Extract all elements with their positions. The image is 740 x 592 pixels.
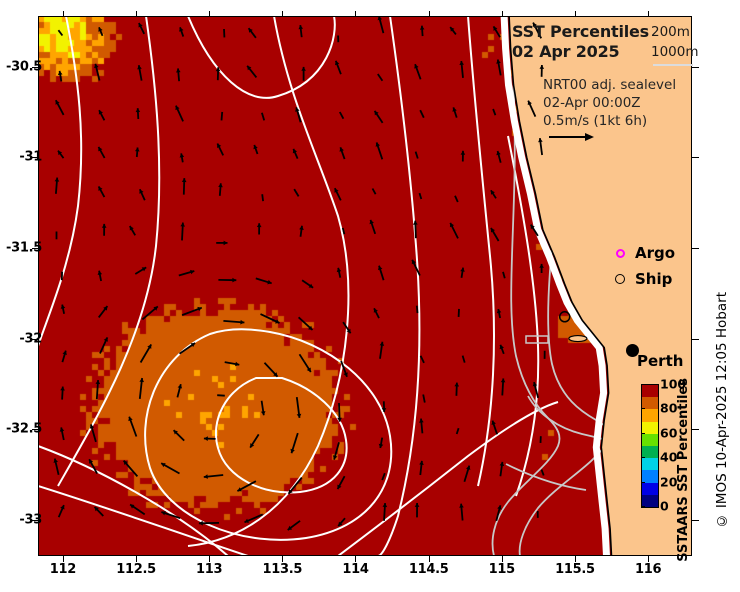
current-vector-arrow xyxy=(337,268,342,278)
current-vector-arrow xyxy=(493,109,495,115)
current-vector-arrow xyxy=(420,110,424,118)
current-vector-arrow xyxy=(302,280,313,288)
current-vector-arrow xyxy=(199,521,219,526)
current-vector-arrow xyxy=(500,345,504,354)
copyright-notice: © IMOS 10-Apr-2025 12:05 Hobart xyxy=(714,292,730,528)
current-vector-arrow xyxy=(335,61,341,74)
current-vector-arrow xyxy=(528,101,536,117)
colorbar-tick xyxy=(641,433,645,434)
current-vector-arrow xyxy=(494,26,501,37)
x-tick xyxy=(429,11,430,17)
current-vector-arrow xyxy=(100,337,108,353)
colorbar-band xyxy=(642,385,658,397)
legend-label-ship: Ship xyxy=(635,270,672,288)
y-tick-label: -31.5 xyxy=(6,240,42,255)
current-vector-arrow xyxy=(378,266,384,281)
current-vector-arrow xyxy=(89,459,97,473)
x-tick xyxy=(355,11,356,17)
current-vector-arrow xyxy=(454,383,459,396)
current-vector-arrow xyxy=(299,226,304,237)
x-tick xyxy=(648,11,649,17)
current-vector-arrow xyxy=(539,264,544,273)
colorbar-band xyxy=(642,409,658,421)
current-vector-arrow xyxy=(450,223,458,239)
info-timestamp: 02-Apr 00:00Z xyxy=(543,95,641,112)
current-vector-arrow xyxy=(179,27,183,36)
depth-legend-200m: 200m xyxy=(651,22,690,42)
y-tick xyxy=(692,520,699,521)
current-vector-arrow xyxy=(414,64,420,79)
colorbar-tick-label: 80 xyxy=(660,401,677,416)
current-vector-arrow xyxy=(501,378,506,395)
current-vector-arrow xyxy=(61,305,66,314)
current-vector-arrow xyxy=(135,148,140,158)
current-vector-arrow xyxy=(98,27,102,36)
y-tick xyxy=(692,248,699,249)
current-vector-arrow xyxy=(375,111,383,123)
current-vector-arrow xyxy=(420,26,425,36)
current-vector-arrow xyxy=(256,278,272,284)
current-vector-arrow xyxy=(177,384,182,397)
x-tick-label: 113.5 xyxy=(263,562,303,577)
current-vector-arrow xyxy=(457,428,459,434)
current-vector-arrow xyxy=(180,153,185,162)
current-vector-arrow xyxy=(136,108,141,119)
current-vector-arrow xyxy=(250,434,259,447)
current-vector-arrow xyxy=(130,226,135,235)
current-vector-arrow xyxy=(540,65,545,77)
current-vector-arrow xyxy=(416,152,418,159)
colorbar-tick-label: 0 xyxy=(660,499,669,514)
current-vector-arrow xyxy=(253,145,257,154)
current-vector-arrow xyxy=(340,112,344,119)
current-vector-arrow xyxy=(294,189,298,196)
x-tick xyxy=(502,11,503,17)
x-tick xyxy=(63,11,64,17)
current-vector-arrow xyxy=(60,427,64,440)
colorbar-tick-label: 60 xyxy=(660,425,677,440)
colorbar-tick xyxy=(641,482,645,483)
current-vector-arrow xyxy=(382,401,387,412)
y-tick xyxy=(692,67,699,68)
x-tick xyxy=(209,11,210,17)
current-vector-arrow xyxy=(459,504,464,521)
current-vector-arrow xyxy=(175,106,183,122)
current-vector-arrow xyxy=(378,74,383,81)
current-vector-arrow xyxy=(161,511,180,518)
current-vector-arrow xyxy=(533,382,538,398)
current-vector-arrow xyxy=(340,147,345,159)
current-vector-arrow xyxy=(461,151,466,162)
current-vector-arrow xyxy=(455,196,458,202)
current-vector-arrow xyxy=(412,260,420,276)
y-tick-label: -32 xyxy=(19,331,42,346)
legend-label-argo: Argo xyxy=(635,244,675,262)
colorbar-tick xyxy=(641,384,645,385)
current-vector-arrow xyxy=(124,461,138,477)
x-tick-label: 112 xyxy=(50,562,76,577)
colorbar-tick-label: 40 xyxy=(660,450,677,465)
y-tick-label: -33 xyxy=(19,512,42,527)
current-vector-arrow xyxy=(182,307,202,315)
current-vector-arrow xyxy=(496,60,501,76)
depth-legend-line-sample xyxy=(653,64,693,66)
current-vector-arrow xyxy=(343,228,345,234)
current-vector-arrow xyxy=(288,521,300,530)
current-vector-arrow xyxy=(56,100,64,115)
current-vector-arrow xyxy=(137,65,142,80)
current-vector-arrow xyxy=(379,438,384,448)
y-tick xyxy=(692,157,699,158)
sst-percentiles-map: SST Percentiles 02 Apr 2025 200m 1000m N… xyxy=(0,0,740,592)
page-title: SST Percentiles xyxy=(512,22,649,41)
current-vector-arrow xyxy=(176,68,181,81)
current-vector-arrow xyxy=(299,317,313,330)
current-vector-arrow xyxy=(225,362,240,367)
current-vector-arrow xyxy=(497,309,502,318)
current-vector-arrow xyxy=(376,142,383,159)
current-vector-arrow xyxy=(245,514,263,523)
current-vector-arrow xyxy=(463,356,465,363)
current-vector-arrow xyxy=(179,270,195,276)
current-vector-arrow xyxy=(491,190,496,198)
current-vector-arrow xyxy=(538,138,543,155)
current-vector-arrow xyxy=(216,67,221,80)
current-vector-arrow xyxy=(139,189,145,200)
x-tick xyxy=(136,11,137,17)
x-tick-label: 116 xyxy=(635,562,661,577)
current-vector-arrow xyxy=(139,378,144,399)
ship-marker-icon xyxy=(615,274,625,284)
current-vector-arrow xyxy=(380,342,385,359)
current-vector-arrow xyxy=(135,267,146,274)
current-vector-arrow xyxy=(301,67,306,81)
current-vector-arrow xyxy=(174,430,185,440)
current-vector-arrow xyxy=(419,419,424,434)
current-vector-arrow xyxy=(180,343,196,354)
current-vector-arrow xyxy=(204,474,223,479)
colorbar xyxy=(641,384,659,508)
current-vector-arrow xyxy=(415,503,420,517)
current-vector-arrow xyxy=(290,433,297,453)
x-tick-label: 113 xyxy=(196,562,222,577)
x-tick-label: 114.5 xyxy=(409,562,449,577)
current-vector-arrow xyxy=(139,23,145,34)
colorbar-title: SSTAARS SST Percentiles xyxy=(676,378,691,562)
current-vector-arrow xyxy=(289,478,302,494)
current-vector-arrow xyxy=(141,344,152,362)
current-vector-arrow xyxy=(338,518,345,526)
page-date: 02 Apr 2025 xyxy=(512,42,619,61)
current-vector-arrow xyxy=(374,308,379,318)
current-vector-arrow xyxy=(59,505,65,517)
current-vector-arrow xyxy=(421,356,424,363)
current-vector-arrow xyxy=(370,220,376,234)
argo-marker-icon xyxy=(616,249,625,258)
y-tick xyxy=(692,429,699,430)
colorbar-band xyxy=(642,458,658,470)
current-vector-arrow xyxy=(204,436,216,441)
current-vector-arrow xyxy=(503,272,505,278)
current-vector-arrow xyxy=(464,466,470,482)
city-label-perth: Perth xyxy=(637,352,683,370)
current-vector-arrow xyxy=(182,178,187,195)
current-vector-arrow xyxy=(420,193,422,199)
current-vector-arrow xyxy=(247,66,256,78)
current-vector-arrow xyxy=(222,112,223,121)
current-vector-arrow xyxy=(373,189,376,195)
current-vector-arrow xyxy=(334,188,340,200)
current-vector-arrow xyxy=(58,151,64,159)
current-vector-arrow xyxy=(460,268,465,278)
x-tick-label: 115.5 xyxy=(555,562,595,577)
current-vector-arrow xyxy=(265,363,278,377)
colorbar-tick xyxy=(641,408,645,409)
current-vector-arrow xyxy=(161,463,179,473)
current-vector-arrow xyxy=(337,403,342,422)
current-vector-arrow xyxy=(299,25,304,37)
velocity-scale-arrow-icon xyxy=(548,130,596,144)
current-vector-arrow xyxy=(295,107,301,122)
current-vector-arrow xyxy=(262,113,264,121)
colorbar-tick-label: 20 xyxy=(660,474,677,489)
current-vector-arrow xyxy=(217,395,225,396)
current-vector-arrow xyxy=(237,481,256,491)
y-tick xyxy=(692,339,699,340)
current-vector-arrow xyxy=(218,183,223,196)
current-vector-arrow xyxy=(257,223,262,234)
current-vector-arrow xyxy=(218,278,236,283)
current-vector-arrow xyxy=(102,224,107,236)
x-tick-label: 112.5 xyxy=(116,562,156,577)
current-vector-arrow xyxy=(333,442,339,459)
current-vector-arrow xyxy=(99,110,105,120)
current-vector-arrow xyxy=(542,470,544,476)
x-tick-label: 114 xyxy=(342,562,368,577)
x-tick-label: 115 xyxy=(489,562,515,577)
current-vector-arrow xyxy=(90,424,96,442)
current-vector-arrow xyxy=(423,395,425,403)
colorbar-tick xyxy=(641,506,645,507)
current-vector-arrow xyxy=(62,351,67,363)
current-vector-arrow xyxy=(262,194,263,201)
current-vector-arrow xyxy=(383,503,388,521)
current-vector-arrow xyxy=(180,223,185,241)
current-vector-arrow xyxy=(249,28,256,38)
current-vector-arrow xyxy=(99,306,108,317)
y-tick-label: -31 xyxy=(19,150,42,165)
current-vector-arrow xyxy=(96,380,101,399)
current-vector-arrow xyxy=(496,151,501,163)
y-tick-label: -30.5 xyxy=(6,59,42,74)
current-vector-arrow xyxy=(261,314,280,323)
current-vector-arrow xyxy=(98,147,104,158)
current-vector-arrow xyxy=(300,354,311,372)
current-vector-arrow xyxy=(382,473,385,480)
current-vector-arrow xyxy=(450,27,456,34)
current-vector-arrow xyxy=(297,397,302,418)
current-vector-arrow xyxy=(492,421,498,435)
current-vector-arrow xyxy=(417,306,418,313)
current-vector-arrow xyxy=(58,30,62,35)
current-vector-arrow xyxy=(142,306,157,319)
y-tick-label: -32.5 xyxy=(6,422,42,437)
current-vector-arrow xyxy=(378,16,384,33)
current-vector-arrow xyxy=(500,462,505,476)
colorbar-band xyxy=(642,434,658,446)
current-vector-arrow xyxy=(58,71,63,82)
x-tick xyxy=(282,11,283,17)
current-vector-arrow xyxy=(55,178,60,194)
colorbar-band xyxy=(642,483,658,495)
current-vector-arrow xyxy=(496,505,501,521)
current-vector-arrow xyxy=(459,61,464,78)
current-vector-arrow xyxy=(98,186,104,197)
current-vector-arrow xyxy=(293,149,298,159)
current-vector-arrow xyxy=(341,361,348,377)
current-vector-arrow xyxy=(343,322,351,333)
current-vector-arrow xyxy=(531,225,538,236)
info-source: NRT00 adj. sealevel xyxy=(543,77,676,94)
current-vector-arrow xyxy=(223,320,244,325)
current-vector-arrow xyxy=(95,507,104,516)
current-vector-arrow xyxy=(98,271,103,281)
current-vector-arrow xyxy=(217,144,223,156)
current-vector-arrow xyxy=(491,228,499,241)
current-vector-arrow xyxy=(130,505,145,515)
current-vector-arrow xyxy=(216,241,227,246)
x-tick xyxy=(575,11,576,17)
current-vector-arrow xyxy=(128,417,136,437)
current-vector-arrow xyxy=(261,401,266,416)
current-vector-arrow xyxy=(452,107,456,117)
current-vector-arrow xyxy=(337,476,344,489)
current-vector-arrow xyxy=(419,461,424,475)
info-velocity-scale: 0.5m/s (1kt 6h) xyxy=(543,113,647,130)
current-vector-arrow xyxy=(60,387,65,400)
current-vector-arrow xyxy=(94,64,99,81)
current-vector-arrow xyxy=(413,221,418,239)
depth-legend-1000m: 1000m xyxy=(651,42,699,62)
colorbar-tick xyxy=(641,457,645,458)
current-vector-arrow xyxy=(54,459,59,475)
